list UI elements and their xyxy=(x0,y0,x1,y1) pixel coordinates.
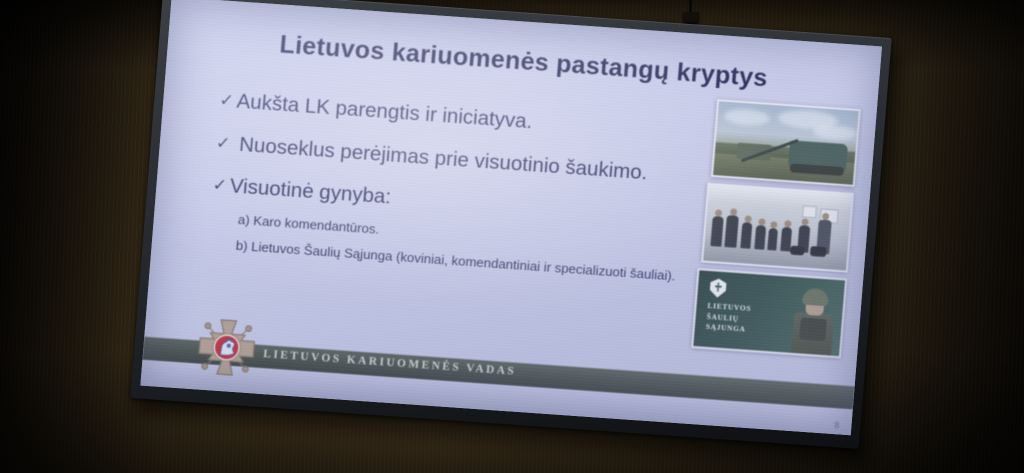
photo-corridor xyxy=(701,183,854,273)
checkmark-icon: ✓ xyxy=(212,175,228,195)
photo-person xyxy=(740,222,752,249)
photo-sauliai: LIETUVOS ŠAULIŲ SĄJUNGA xyxy=(691,268,847,358)
screen-surface: Lietuvos kariuomenės pastangų kryptys ✓ … xyxy=(140,0,882,435)
soldier-vest xyxy=(799,317,827,341)
slide-number: 8 xyxy=(834,420,840,430)
photo-person xyxy=(724,215,739,248)
photo-bag xyxy=(810,246,827,257)
screen-bezel: Lietuvos kariuomenės pastangų kryptys ✓ … xyxy=(130,0,891,449)
soldier-helmet xyxy=(802,288,829,307)
bullet-text: Visuotinė gynyba: xyxy=(229,174,392,209)
mount-clamp xyxy=(683,12,699,23)
photo-artillery xyxy=(711,99,861,187)
photo-person-head xyxy=(729,208,737,215)
bullet-text: Aukšta LK parengtis ir iniciatyva. xyxy=(236,90,533,134)
photo-person xyxy=(767,228,778,251)
slide-title: Lietuvos kariuomenės pastangų kryptys xyxy=(167,23,880,102)
checkmark-icon: ✓ xyxy=(219,90,235,110)
checkmark-icon: ✓ xyxy=(215,133,231,153)
photo-person-head xyxy=(758,218,766,225)
bullet-text: Nuoseklus perėjimas prie visuotinio šauk… xyxy=(238,132,648,184)
presentation-screen: Lietuvos kariuomenės pastangų kryptys ✓ … xyxy=(130,0,891,449)
photo-person-head xyxy=(744,215,752,222)
photo-soldier xyxy=(787,283,840,356)
photo-person-head xyxy=(784,220,792,227)
banner-text: LIETUVOS ŠAULIŲ SĄJUNGA xyxy=(705,301,751,336)
slide-canvas: Lietuvos kariuomenės pastangų kryptys ✓ … xyxy=(140,0,882,435)
lithuanian-armed-forces-cross-emblem xyxy=(193,314,260,380)
photo-bag xyxy=(790,245,805,255)
photo-person xyxy=(754,225,766,250)
photo-wall-frame xyxy=(802,205,817,218)
